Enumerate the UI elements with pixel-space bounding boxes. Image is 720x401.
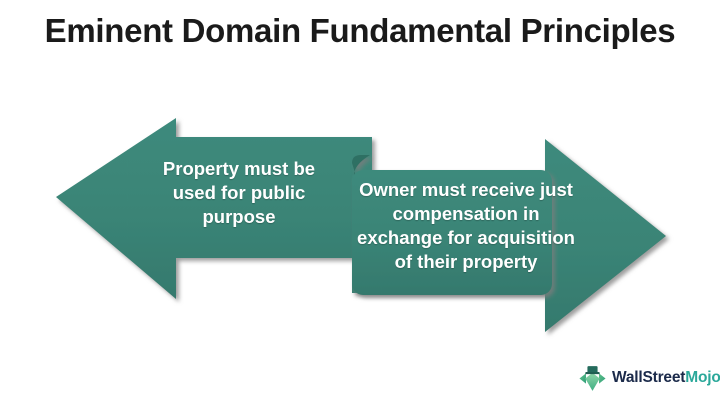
left-arrow-line-2: used for public [140, 181, 338, 205]
logo-wordmark: WallStreetMojo [612, 369, 720, 387]
logo-text-accent: Mojo [685, 369, 720, 386]
right-arrow-label: Owner must receive just compensation in … [352, 178, 580, 274]
right-arrow-line-3: exchange for acquisition [352, 226, 580, 250]
wallstreetmojo-logo[interactable]: WallStreetMojo [578, 362, 712, 394]
left-arrow-line-3: purpose [140, 205, 338, 229]
left-arrow-line-1: Property must be [140, 157, 338, 181]
logo-text-primary: WallStreet [612, 369, 685, 386]
right-arrow-line-4: of their property [352, 250, 580, 274]
right-arrow-line-2: compensation in [352, 202, 580, 226]
right-arrow-line-1: Owner must receive just [352, 178, 580, 202]
wallstreetmojo-figure-icon [578, 364, 607, 393]
slide-canvas: Eminent Domain Fundamental Principles [0, 0, 720, 401]
left-arrow-label: Property must be used for public purpose [140, 157, 338, 229]
